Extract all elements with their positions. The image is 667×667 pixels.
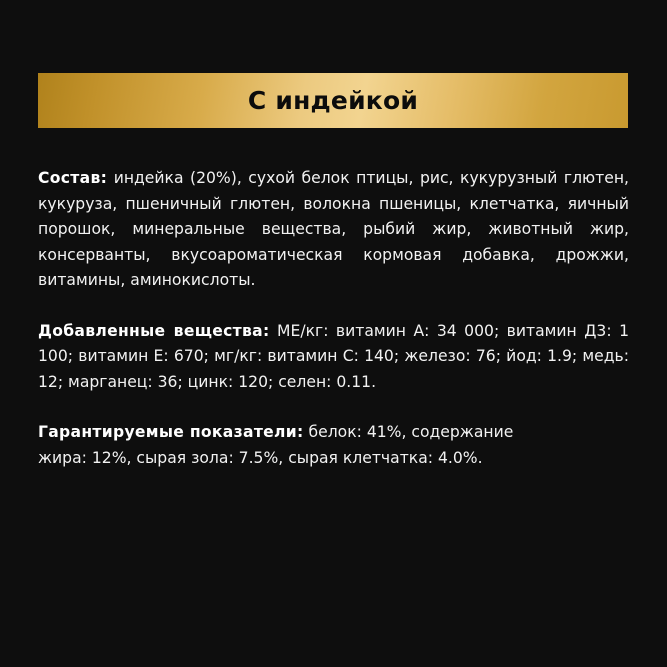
- additives-paragraph: Добавленные вещества: МЕ/кг: витамин А: …: [38, 319, 629, 396]
- composition-paragraph: Состав: индейка (20%), сухой белок птицы…: [38, 166, 629, 294]
- guaranteed-analysis-label: Гарантируемые показатели:: [38, 423, 304, 441]
- guaranteed-analysis-paragraph: Гарантируемые показатели: белок: 41%, со…: [38, 420, 629, 471]
- product-label-panel: С индейкой Состав: индейка (20%), сухой …: [0, 0, 667, 667]
- guaranteed-analysis-body-line2: жира: 12%, сырая зола: 7.5%, сырая клетч…: [38, 446, 629, 472]
- composition-label: Состав:: [38, 169, 107, 187]
- composition-body: индейка (20%), сухой белок птицы, рис, к…: [38, 169, 629, 289]
- label-text-content: Состав: индейка (20%), сухой белок птицы…: [38, 166, 629, 471]
- guaranteed-analysis-body-line1: белок: 41%, содержание: [308, 423, 513, 441]
- product-flavour-banner: С индейкой: [38, 73, 628, 128]
- banner-title: С индейкой: [248, 88, 418, 113]
- additives-label: Добавленные вещества:: [38, 322, 270, 340]
